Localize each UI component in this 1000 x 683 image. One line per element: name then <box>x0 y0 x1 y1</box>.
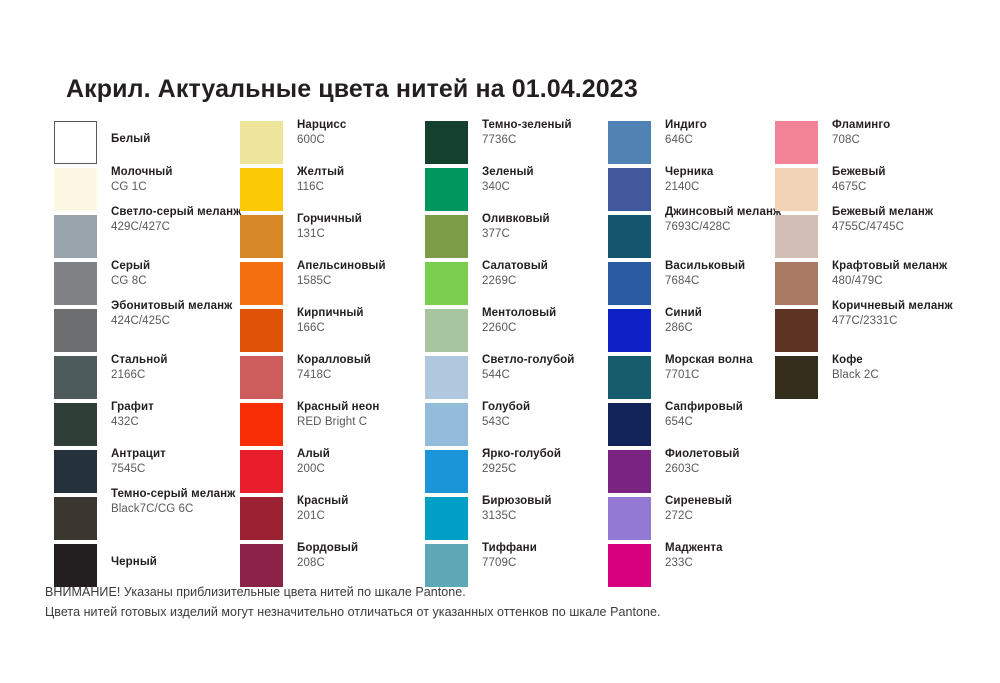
color-swatch <box>240 121 283 164</box>
swatch-labels: Сиреневый272C <box>665 494 815 523</box>
swatch-name: Стальной <box>111 353 261 368</box>
swatch-labels: Крафтовый меланж480/479C <box>832 259 1000 288</box>
color-swatch <box>54 121 97 164</box>
color-swatch <box>54 168 97 211</box>
swatch-pantone-code: 2603C <box>665 462 815 477</box>
color-swatch <box>240 450 283 493</box>
color-swatch <box>54 497 97 540</box>
swatch-name: Сапфировый <box>665 400 815 415</box>
color-swatch <box>608 356 651 399</box>
swatch-labels: Бежевый меланж4755C/4745C <box>832 205 1000 234</box>
color-swatch <box>240 356 283 399</box>
swatch-name: Крафтовый меланж <box>832 259 1000 274</box>
swatch-labels: Стальной2166C <box>111 353 261 382</box>
swatch-name: Молочный <box>111 165 261 180</box>
swatch-pantone-code: 7545C <box>111 462 261 477</box>
swatch-labels: Графит432C <box>111 400 261 429</box>
swatch-pantone-code: 477C/2331C <box>832 314 1000 329</box>
swatch-name: Белый <box>111 132 261 147</box>
swatch-labels: Фиолетовый2603C <box>665 447 815 476</box>
swatch-pantone-code: Black7C/CG 6C <box>111 502 261 517</box>
swatch-pantone-code: 4755C/4745C <box>832 220 1000 235</box>
swatch-name: Светло-серый меланж <box>111 205 261 220</box>
swatch-name: Эбонитовый меланж <box>111 299 261 314</box>
color-swatch <box>54 356 97 399</box>
swatch-pantone-code: 429C/427C <box>111 220 261 235</box>
swatch-pantone-code: 480/479C <box>832 274 1000 289</box>
color-swatch <box>425 403 468 446</box>
color-swatch <box>425 121 468 164</box>
color-swatch <box>240 262 283 305</box>
swatch-pantone-code: 708C <box>832 133 1000 148</box>
swatch-pantone-code: CG 1C <box>111 180 261 195</box>
color-swatch <box>54 309 97 352</box>
color-swatch <box>608 309 651 352</box>
color-swatch <box>608 121 651 164</box>
color-swatch <box>240 168 283 211</box>
color-swatch <box>54 262 97 305</box>
color-swatch <box>425 450 468 493</box>
swatch-name: Антрацит <box>111 447 261 462</box>
color-swatch <box>608 544 651 587</box>
swatch-name: Кофе <box>832 353 1000 368</box>
color-swatch <box>425 356 468 399</box>
color-swatch <box>54 450 97 493</box>
swatch-pantone-code: 272C <box>665 509 815 524</box>
swatch-pantone-code: 4675C <box>832 180 1000 195</box>
color-swatch <box>775 121 818 164</box>
color-swatch <box>775 215 818 258</box>
color-swatch <box>608 262 651 305</box>
swatch-labels: Фламинго708C <box>832 118 1000 147</box>
footer-notes: ВНИМАНИЕ! Указаны приблизительные цвета … <box>45 582 945 622</box>
swatch-pantone-code: Black 2C <box>832 368 1000 383</box>
swatch-labels: Темно-серый меланжBlack7C/CG 6C <box>111 487 261 516</box>
color-swatch <box>608 215 651 258</box>
swatch-name: Коричневый меланж <box>832 299 1000 314</box>
color-swatch <box>608 403 651 446</box>
color-swatch <box>240 497 283 540</box>
page-title: Акрил. Актуальные цвета нитей на 01.04.2… <box>66 75 638 104</box>
swatch-labels: Белый <box>111 132 261 147</box>
color-swatch <box>240 544 283 587</box>
color-swatch <box>775 262 818 305</box>
color-swatch <box>775 309 818 352</box>
swatch-labels: Коричневый меланж477C/2331C <box>832 299 1000 328</box>
swatch-labels: КофеBlack 2C <box>832 353 1000 382</box>
swatch-pantone-code: 654C <box>665 415 815 430</box>
color-chart-page: Акрил. Актуальные цвета нитей на 01.04.2… <box>0 0 1000 683</box>
color-swatch <box>240 403 283 446</box>
swatch-pantone-code: CG 8C <box>111 274 261 289</box>
swatch-name: Маджента <box>665 541 815 556</box>
swatch-labels: Светло-серый меланж429C/427C <box>111 205 261 234</box>
swatch-pantone-code: 432C <box>111 415 261 430</box>
swatch-name: Бежевый <box>832 165 1000 180</box>
color-swatch <box>608 450 651 493</box>
swatch-name: Фиолетовый <box>665 447 815 462</box>
swatch-labels: МолочныйCG 1C <box>111 165 261 194</box>
swatch-labels: СерыйCG 8C <box>111 259 261 288</box>
color-swatch <box>240 215 283 258</box>
swatch-name: Черный <box>111 555 261 570</box>
color-swatch <box>425 544 468 587</box>
swatch-pantone-code: 233C <box>665 556 815 571</box>
swatch-labels: Маджента233C <box>665 541 815 570</box>
footer-line-warning: ВНИМАНИЕ! Указаны приблизительные цвета … <box>45 582 945 602</box>
swatch-labels: Бежевый4675C <box>832 165 1000 194</box>
swatch-labels: Эбонитовый меланж424C/425C <box>111 299 261 328</box>
color-swatch <box>608 168 651 211</box>
swatch-labels: Черный <box>111 555 261 570</box>
swatch-name: Фламинго <box>832 118 1000 133</box>
swatch-name: Графит <box>111 400 261 415</box>
swatch-name: Темно-серый меланж <box>111 487 261 502</box>
swatch-name: Сиреневый <box>665 494 815 509</box>
color-swatch <box>425 497 468 540</box>
color-swatch <box>775 168 818 211</box>
color-swatch <box>54 215 97 258</box>
swatch-labels: Антрацит7545C <box>111 447 261 476</box>
color-swatch <box>608 497 651 540</box>
color-swatch <box>425 309 468 352</box>
footer-line-disclaimer: Цвета нитей готовых изделий могут незнач… <box>45 602 945 622</box>
swatch-labels: Сапфировый654C <box>665 400 815 429</box>
color-swatch <box>54 544 97 587</box>
swatch-pantone-code: 2166C <box>111 368 261 383</box>
swatch-name: Серый <box>111 259 261 274</box>
color-swatch <box>425 262 468 305</box>
swatch-pantone-code: 424C/425C <box>111 314 261 329</box>
color-swatch <box>240 309 283 352</box>
color-swatch <box>425 215 468 258</box>
color-swatch <box>54 403 97 446</box>
swatch-name: Бежевый меланж <box>832 205 1000 220</box>
color-swatch <box>775 356 818 399</box>
color-swatch <box>425 168 468 211</box>
